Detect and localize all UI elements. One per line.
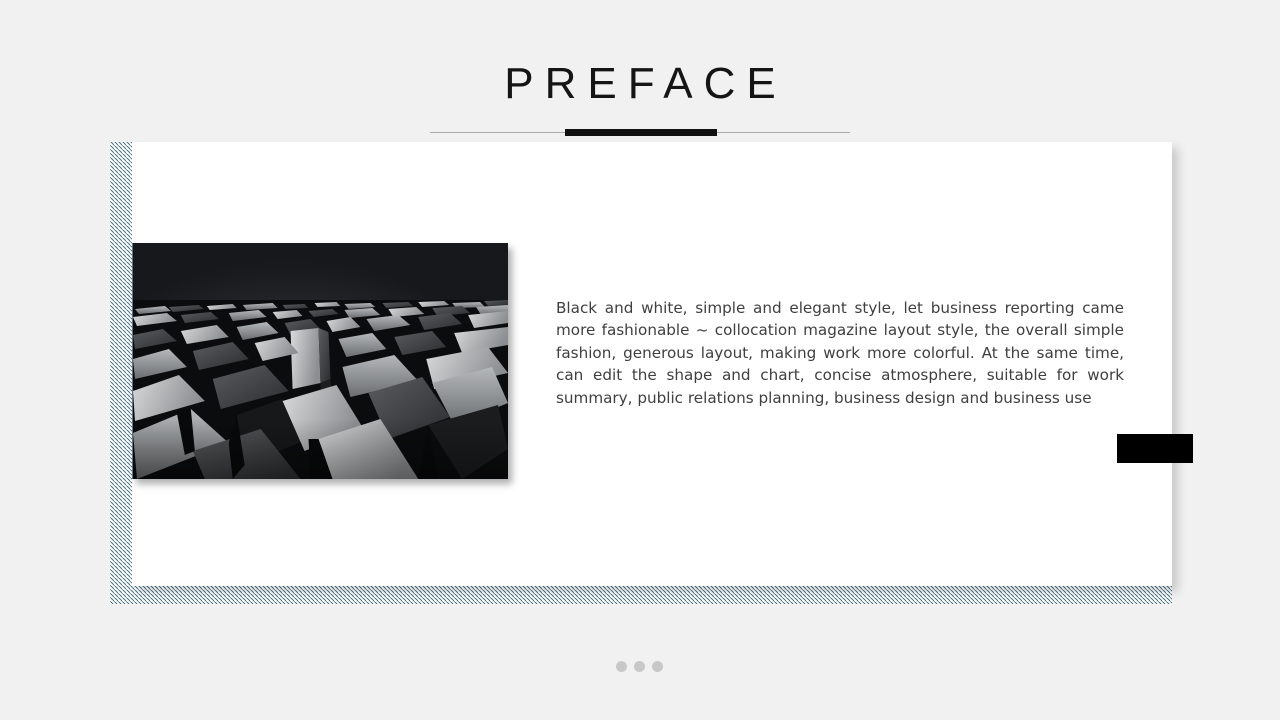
slide-canvas: PREFACE — [0, 0, 1280, 720]
pagination-dots[interactable] — [616, 661, 663, 672]
pagination-dot[interactable] — [616, 661, 627, 672]
pagination-dot[interactable] — [652, 661, 663, 672]
title-block: PREFACE — [0, 62, 1280, 106]
abstract-blocks-image — [133, 243, 508, 479]
pagination-dot[interactable] — [634, 661, 645, 672]
preface-photo — [132, 243, 508, 479]
preface-paragraph: Black and white, simple and elegant styl… — [556, 297, 1124, 409]
accent-tab — [1117, 434, 1193, 463]
title-divider — [430, 129, 850, 137]
divider-accent-bar — [565, 129, 717, 136]
page-title: PREFACE — [0, 62, 1280, 106]
